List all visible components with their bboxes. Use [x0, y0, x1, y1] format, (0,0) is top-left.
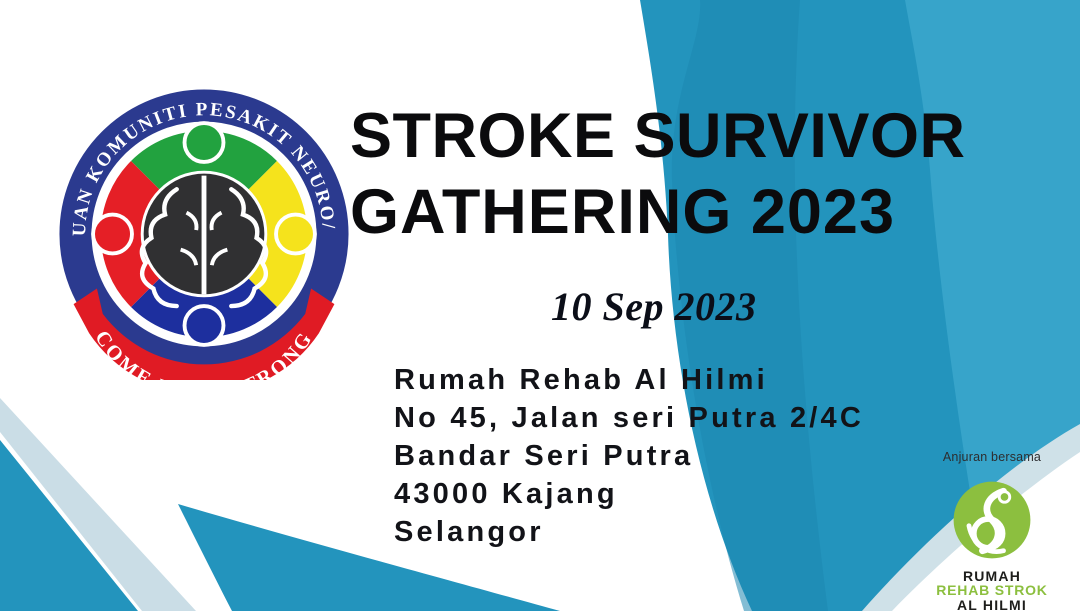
association-logo: PERSATUAN KOMUNITI PESAKIT NEURO/STROKE — [58, 88, 350, 380]
venue-address: Rumah Rehab Al Hilmi No 45, Jalan seri P… — [394, 361, 864, 551]
title-line-2: GATHERING 2023 — [350, 182, 1000, 244]
poster-canvas: PERSATUAN KOMUNITI PESAKIT NEURO/STROKE — [0, 0, 1080, 611]
address-line-3: Bandar Seri Putra — [394, 437, 864, 475]
headline-block: STROKE SURVIVOR GATHERING 2023 — [350, 106, 1000, 243]
sponsor-name-line-3: AL HILMI — [908, 598, 1076, 611]
sponsor-wordmark: RUMAH REHAB STROK AL HILMI Tenang Pulih … — [908, 569, 1076, 611]
address-line-1: Rumah Rehab Al Hilmi — [394, 361, 864, 399]
event-date: 10 Sep 2023 — [551, 283, 757, 330]
sponsor-name-line-2: REHAB STROK — [908, 583, 1076, 597]
address-line-5: Selangor — [394, 513, 864, 551]
sponsor-block: Anjuran bersama RUMAH REHAB STROK AL HIL… — [908, 450, 1076, 611]
address-line-4: 43000 Kajang — [394, 475, 864, 513]
address-line-2: No 45, Jalan seri Putra 2/4C — [394, 399, 864, 437]
sponsor-name-line-1: RUMAH — [908, 569, 1076, 583]
sponsor-caption: Anjuran bersama — [908, 450, 1076, 464]
sponsor-figure-head-inner — [1001, 493, 1009, 501]
title-line-1: STROKE SURVIVOR — [350, 106, 1000, 168]
sponsor-logo-icon — [944, 472, 1040, 568]
